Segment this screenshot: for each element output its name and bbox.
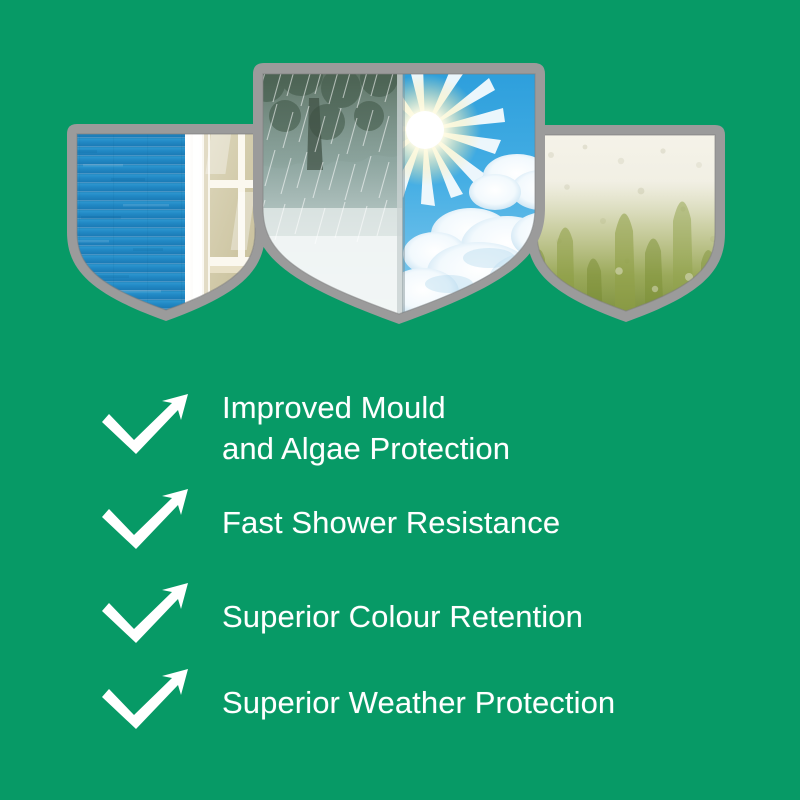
benefit-item: Improved Mould and Algae Protection xyxy=(100,382,800,474)
check-arrow-icon xyxy=(100,487,200,559)
shield-center xyxy=(249,58,549,330)
benefits-list: Improved Mould and Algae Protection Fast… xyxy=(0,382,800,742)
benefit-label: Fast Shower Resistance xyxy=(222,502,560,543)
poster-canvas: Improved Mould and Algae Protection Fast… xyxy=(0,0,800,800)
check-arrow-icon xyxy=(100,392,200,464)
check-arrow-icon xyxy=(100,581,200,653)
benefit-item: Superior Colour Retention xyxy=(100,574,800,660)
check-arrow-icon xyxy=(100,667,200,739)
benefit-item: Superior Weather Protection xyxy=(100,660,800,746)
benefit-label: Superior Colour Retention xyxy=(222,596,583,637)
benefit-label: Superior Weather Protection xyxy=(222,682,615,723)
shield-center-scene xyxy=(245,52,579,330)
shield-right-scene xyxy=(523,121,729,326)
shield-right xyxy=(523,121,729,326)
benefit-label: Improved Mould and Algae Protection xyxy=(222,387,510,469)
benefit-item: Fast Shower Resistance xyxy=(100,480,800,566)
shield-left xyxy=(63,120,269,325)
